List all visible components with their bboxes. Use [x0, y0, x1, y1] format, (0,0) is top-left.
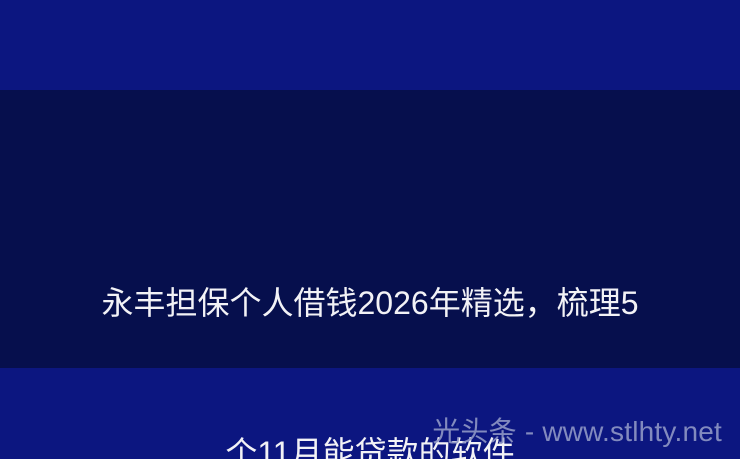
thumbnail-card: 永丰担保个人借钱2026年精选，梳理5 个11月能贷款的软件 光头条 - www… [0, 0, 740, 459]
site-watermark: 光头条 - www.stlhty.net [432, 415, 722, 449]
headline-line-1: 永丰担保个人借钱2026年精选，梳理5 [0, 278, 740, 328]
background-band-top [0, 0, 740, 90]
